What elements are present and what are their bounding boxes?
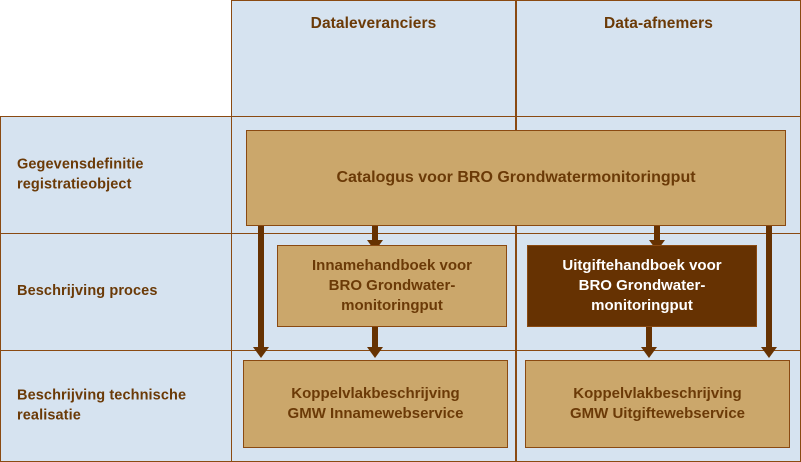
connector-catalogus-to-koppelvlak-inname-arrowhead (253, 347, 269, 358)
box-innamehandboek[interactable]: Innamehandboek voor BRO Grondwater- moni… (277, 245, 507, 327)
connector-catalogus-to-koppelvlak-inname-line (258, 225, 264, 350)
box-innamehandboek-label: Innamehandboek voor BRO Grondwater- moni… (304, 256, 480, 315)
box-uitgiftehandboek[interactable]: Uitgiftehandboek voor BRO Grondwater- mo… (527, 245, 757, 327)
row-label-beschrijving-technische-realisatie: Beschrijving technische realisatie (17, 386, 221, 425)
connector-innamehandboek-to-koppelvlak-inname-arrowhead (367, 347, 383, 358)
box-koppelvlak-uitgifte-label: Koppelvlakbeschrijving GMW Uitgiftewebse… (562, 384, 753, 424)
box-koppelvlak-inname[interactable]: Koppelvlakbeschrijving GMW Innamewebserv… (243, 360, 508, 448)
connector-catalogus-to-koppelvlak-uitgifte-arrowhead (761, 347, 777, 358)
box-catalogus[interactable]: Catalogus voor BRO Grondwatermonitoringp… (246, 130, 786, 226)
box-koppelvlak-inname-label: Koppelvlakbeschrijving GMW Innamewebserv… (280, 384, 472, 424)
row-label-cell-beschrijving-proces: Beschrijving proces (0, 233, 232, 351)
row-label-cell-beschrijving-technische-realisatie: Beschrijving technische realisatie (0, 350, 232, 462)
column-header-data-afnemers: Data-afnemers (517, 15, 800, 33)
documentation-structure-diagram: Dataleveranciers Data-afnemers Gegevensd… (0, 0, 801, 462)
column-header-dataleveranciers: Dataleveranciers (232, 15, 515, 33)
box-koppelvlak-uitgifte[interactable]: Koppelvlakbeschrijving GMW Uitgiftewebse… (525, 360, 790, 448)
box-catalogus-label: Catalogus voor BRO Grondwatermonitoringp… (328, 167, 703, 188)
row-label-beschrijving-proces: Beschrijving proces (17, 282, 221, 302)
box-uitgiftehandboek-label: Uitgiftehandboek voor BRO Grondwater- mo… (554, 256, 729, 315)
row-label-cell-gegevensdefinitie: Gegevensdefinitie registratieobject (0, 116, 232, 234)
row-label-gegevensdefinitie: Gegevensdefinitie registratieobject (17, 155, 221, 194)
header-cell-dataleveranciers: Dataleveranciers (231, 0, 516, 117)
connector-catalogus-to-koppelvlak-uitgifte-line (766, 225, 772, 350)
header-cell-data-afnemers: Data-afnemers (516, 0, 801, 117)
connector-uitgiftehandboek-to-koppelvlak-uitgifte-arrowhead (641, 347, 657, 358)
